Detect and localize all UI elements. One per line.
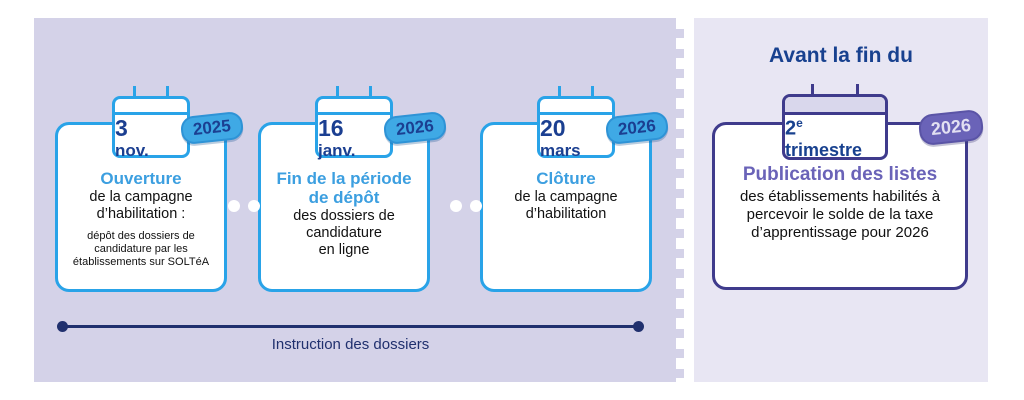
calendar-quarter: 2e: [785, 117, 885, 139]
connector-dots: [450, 200, 484, 212]
milestone-title: Ouverture: [64, 169, 218, 188]
calendar-day: 16: [318, 117, 390, 140]
connector-dot: [450, 200, 462, 212]
calendar-month: nov.: [115, 142, 187, 159]
connector-dot: [470, 200, 482, 212]
perforated-dashed-divider-icon: [676, 18, 686, 382]
connector-dot: [228, 200, 240, 212]
milestone-card-body: Clôture de la campagned’habilitation: [489, 169, 643, 223]
milestone-subtitle: de la campagned’habilitation: [489, 189, 643, 223]
arrow-label: Instruction des dossiers: [58, 336, 643, 353]
calendar-header-band: [785, 97, 885, 115]
calendar-icon: 2e trimestre: [782, 84, 888, 160]
arrow-endpoint-dot-right: [633, 321, 644, 332]
arrow-line: [58, 325, 643, 328]
publication-card-body: Publication des listes des établissement…: [725, 165, 955, 243]
calendar-body: 2e trimestre: [782, 94, 888, 160]
calendar-month: janv.: [318, 142, 390, 159]
calendar-day: 3: [115, 117, 187, 140]
calendar-body: 20 mars: [537, 96, 615, 158]
calendar-icon: 3 nov.: [112, 86, 190, 158]
milestone-subtitle: des dossiers decandidatureen ligne: [267, 208, 421, 258]
calendar-date: 3 nov.: [115, 117, 187, 159]
calendar-icon: 20 mars: [537, 86, 615, 158]
calendar-quarter-suffix: e: [796, 116, 803, 130]
calendar-icon: 16 janv.: [315, 86, 393, 158]
calendar-day: 20: [540, 117, 612, 140]
calendar-quarter-number: 2: [785, 118, 796, 140]
milestone-card-body: Ouverture de la campagned’habilitation :…: [64, 169, 218, 269]
calendar-body: 16 janv.: [315, 96, 393, 158]
calendar-period: 2e trimestre: [785, 117, 885, 159]
timeline-infographic: 3 nov. 2025 Ouverture de la campagned’ha…: [0, 0, 1024, 400]
milestone-title: Fin de la périodede dépôt: [267, 169, 421, 207]
calendar-body: 3 nov.: [112, 96, 190, 158]
arrow-endpoint-dot-left: [57, 321, 68, 332]
milestone-subtitle: de la campagned’habilitation :: [64, 189, 218, 223]
instruction-progress-arrow: Instruction des dossiers: [58, 320, 643, 366]
connector-dot: [248, 200, 260, 212]
calendar-period-label: trimestre: [785, 141, 885, 159]
right-panel-heading: Avant la fin du: [694, 45, 988, 66]
publication-title: Publication des listes: [725, 165, 955, 186]
calendar-date: 20 mars: [540, 117, 612, 159]
connector-dots: [228, 200, 262, 212]
calendar-date: 16 janv.: [318, 117, 390, 159]
milestone-note: dépôt des dossiers decandidature par les…: [64, 230, 218, 270]
milestone-card-body: Fin de la périodede dépôt des dossiers d…: [267, 169, 421, 259]
calendar-month: mars: [540, 142, 612, 159]
milestone-title: Clôture: [489, 169, 643, 188]
publication-subtitle: des établissements habilités àpercevoir …: [725, 188, 955, 243]
